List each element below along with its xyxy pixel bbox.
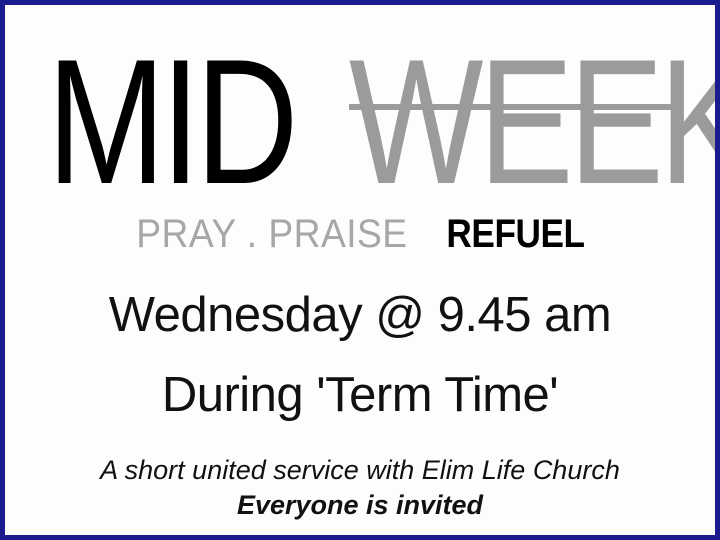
footer-service-note: A short united service with Elim Life Ch… xyxy=(5,457,715,484)
logo-word-week: WEEK xyxy=(349,33,720,211)
logo-wordmark: MID WEEK xyxy=(47,33,693,193)
logo-block: MID WEEK xyxy=(5,33,715,213)
tagline: PRAY . PRAISEREFUEL xyxy=(5,214,715,254)
footer-invitation: Everyone is invited xyxy=(5,492,715,519)
midweek-flyer: MID WEEK PRAY . PRAISEREFUEL Wednesday @… xyxy=(0,0,720,540)
detail-term-period: During 'Term Time' xyxy=(5,371,715,420)
tagline-refuel: REFUEL xyxy=(447,214,585,254)
detail-day-time: Wednesday @ 9.45 am xyxy=(5,291,715,340)
logo-overline-rule xyxy=(349,104,683,110)
logo-word-mid: MID xyxy=(47,33,294,211)
tagline-pray-praise: PRAY . PRAISE xyxy=(136,214,407,254)
